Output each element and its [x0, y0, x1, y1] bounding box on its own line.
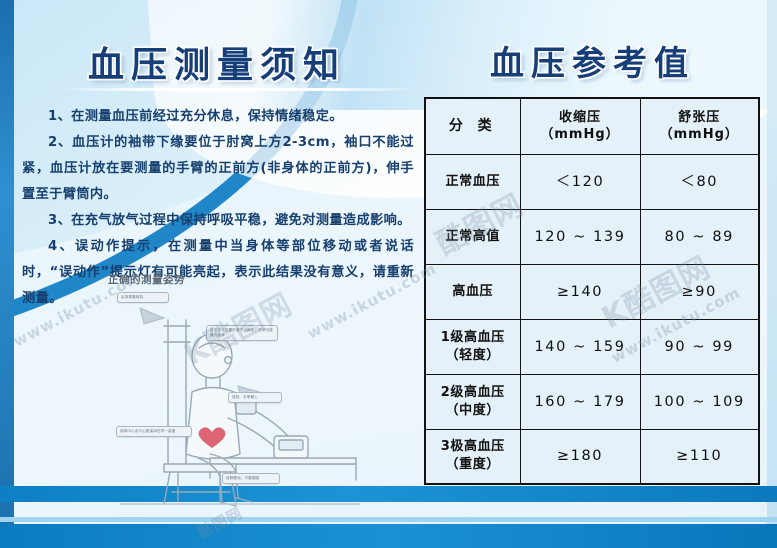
- row-systolic: ＜120: [520, 154, 640, 209]
- measurement-posture-illustration: [60, 268, 360, 508]
- row-category-line1: 正常高值: [426, 228, 520, 246]
- table-row: 正常血压 ＜120 ＜80: [425, 154, 759, 209]
- instruction-item-2: 2、血压计的袖带下缘要位于肘窝上方2-3cm，袖口不能过紧，血压计放在要测量的手…: [22, 130, 414, 208]
- row-category-line1: 2级高血压: [426, 384, 520, 402]
- row-systolic: 140 ~ 159: [520, 319, 640, 374]
- bottom-band-light: [0, 517, 777, 522]
- row-category-line1: 1级高血压: [426, 329, 520, 347]
- row-diastolic: ≥90: [640, 264, 759, 319]
- header-diastolic-unit: （mmHg）: [641, 126, 759, 143]
- row-diastolic: 100 ~ 109: [640, 374, 759, 429]
- header-systolic: 收缩压 （mmHg）: [520, 98, 640, 154]
- row-category-line2: （中度）: [426, 402, 520, 420]
- instruction-item-3: 3、在充气放气过程中保持呼吸平稳，避免对测量造成影响。: [22, 208, 414, 234]
- blood-pressure-reference-table: 分 类 收缩压 （mmHg） 舒张压 （mmHg） 正常血压 ＜120 ＜80: [424, 97, 760, 485]
- table-row: 2级高血压 （中度） 160 ~ 179 100 ~ 109: [425, 374, 759, 429]
- row-category-line2: （轻度）: [426, 347, 520, 365]
- row-category-line1: 正常血压: [426, 173, 520, 191]
- header-systolic-unit: （mmHg）: [521, 126, 640, 143]
- row-category: 1级高血压 （轻度）: [425, 319, 520, 374]
- row-category: 2级高血压 （中度）: [425, 374, 520, 429]
- bottom-band-secondary: [0, 524, 777, 548]
- row-diastolic: ≥110: [640, 429, 759, 484]
- left-title-underline: [60, 88, 420, 91]
- header-diastolic: 舒张压 （mmHg）: [640, 98, 759, 154]
- row-category-line1: 高血压: [426, 283, 520, 301]
- callout-cuff-height: 袖带中心点与心脏保持在同一高度: [116, 426, 192, 437]
- left-section-title: 血压测量须知: [88, 36, 346, 88]
- callout-device-position: 将血压计放置在桌子边缘处，并尽可能靠近身体: [206, 325, 278, 341]
- row-category: 正常高值: [425, 209, 520, 264]
- row-category-line1: 3极高血压: [426, 438, 520, 456]
- right-edge-bar: [767, 0, 777, 548]
- row-systolic: 160 ~ 179: [520, 374, 640, 429]
- watermark-brand-short: 酷图网: [194, 502, 246, 543]
- row-systolic: ≥140: [520, 264, 640, 319]
- row-category-line2: （重度）: [426, 456, 520, 474]
- row-category: 3极高血压 （重度）: [425, 429, 520, 484]
- header-systolic-label: 收缩压: [521, 109, 640, 126]
- callout-back-support: 后背紧靠椅背: [117, 292, 169, 303]
- table-row: 正常高值 120 ~ 139 80 ~ 89: [425, 209, 759, 264]
- row-category: 正常血压: [425, 154, 520, 209]
- row-diastolic: 90 ~ 99: [640, 319, 759, 374]
- header-diastolic-label: 舒张压: [641, 109, 759, 126]
- table-header-row: 分 类 收缩压 （mmHg） 舒张压 （mmHg）: [425, 98, 759, 154]
- right-section-title: 血压参考值: [490, 36, 695, 85]
- row-systolic: ≥180: [520, 429, 640, 484]
- table-row: 高血压 ≥140 ≥90: [425, 264, 759, 319]
- table-row: 1级高血压 （轻度） 140 ~ 159 90 ~ 99: [425, 319, 759, 374]
- callout-palm-up: 放松、手掌朝上: [228, 392, 282, 403]
- table-row: 3极高血压 （重度） ≥180 ≥110: [425, 429, 759, 484]
- header-category: 分 类: [425, 98, 520, 154]
- poster-canvas: 血压测量须知 血压参考值 1、在测量血压前经过充分休息，保持情绪稳定。 2、血压…: [0, 0, 777, 548]
- instruction-item-1: 1、在测量血压前经过充分休息，保持情绪稳定。: [22, 104, 414, 130]
- row-systolic: 120 ~ 139: [520, 209, 640, 264]
- row-diastolic: 80 ~ 89: [640, 209, 759, 264]
- left-edge-bar: [0, 0, 14, 548]
- row-category: 高血压: [425, 264, 520, 319]
- row-diastolic: ＜80: [640, 154, 759, 209]
- callout-feet-flat: 双脚着地、不要跷腿: [222, 473, 280, 484]
